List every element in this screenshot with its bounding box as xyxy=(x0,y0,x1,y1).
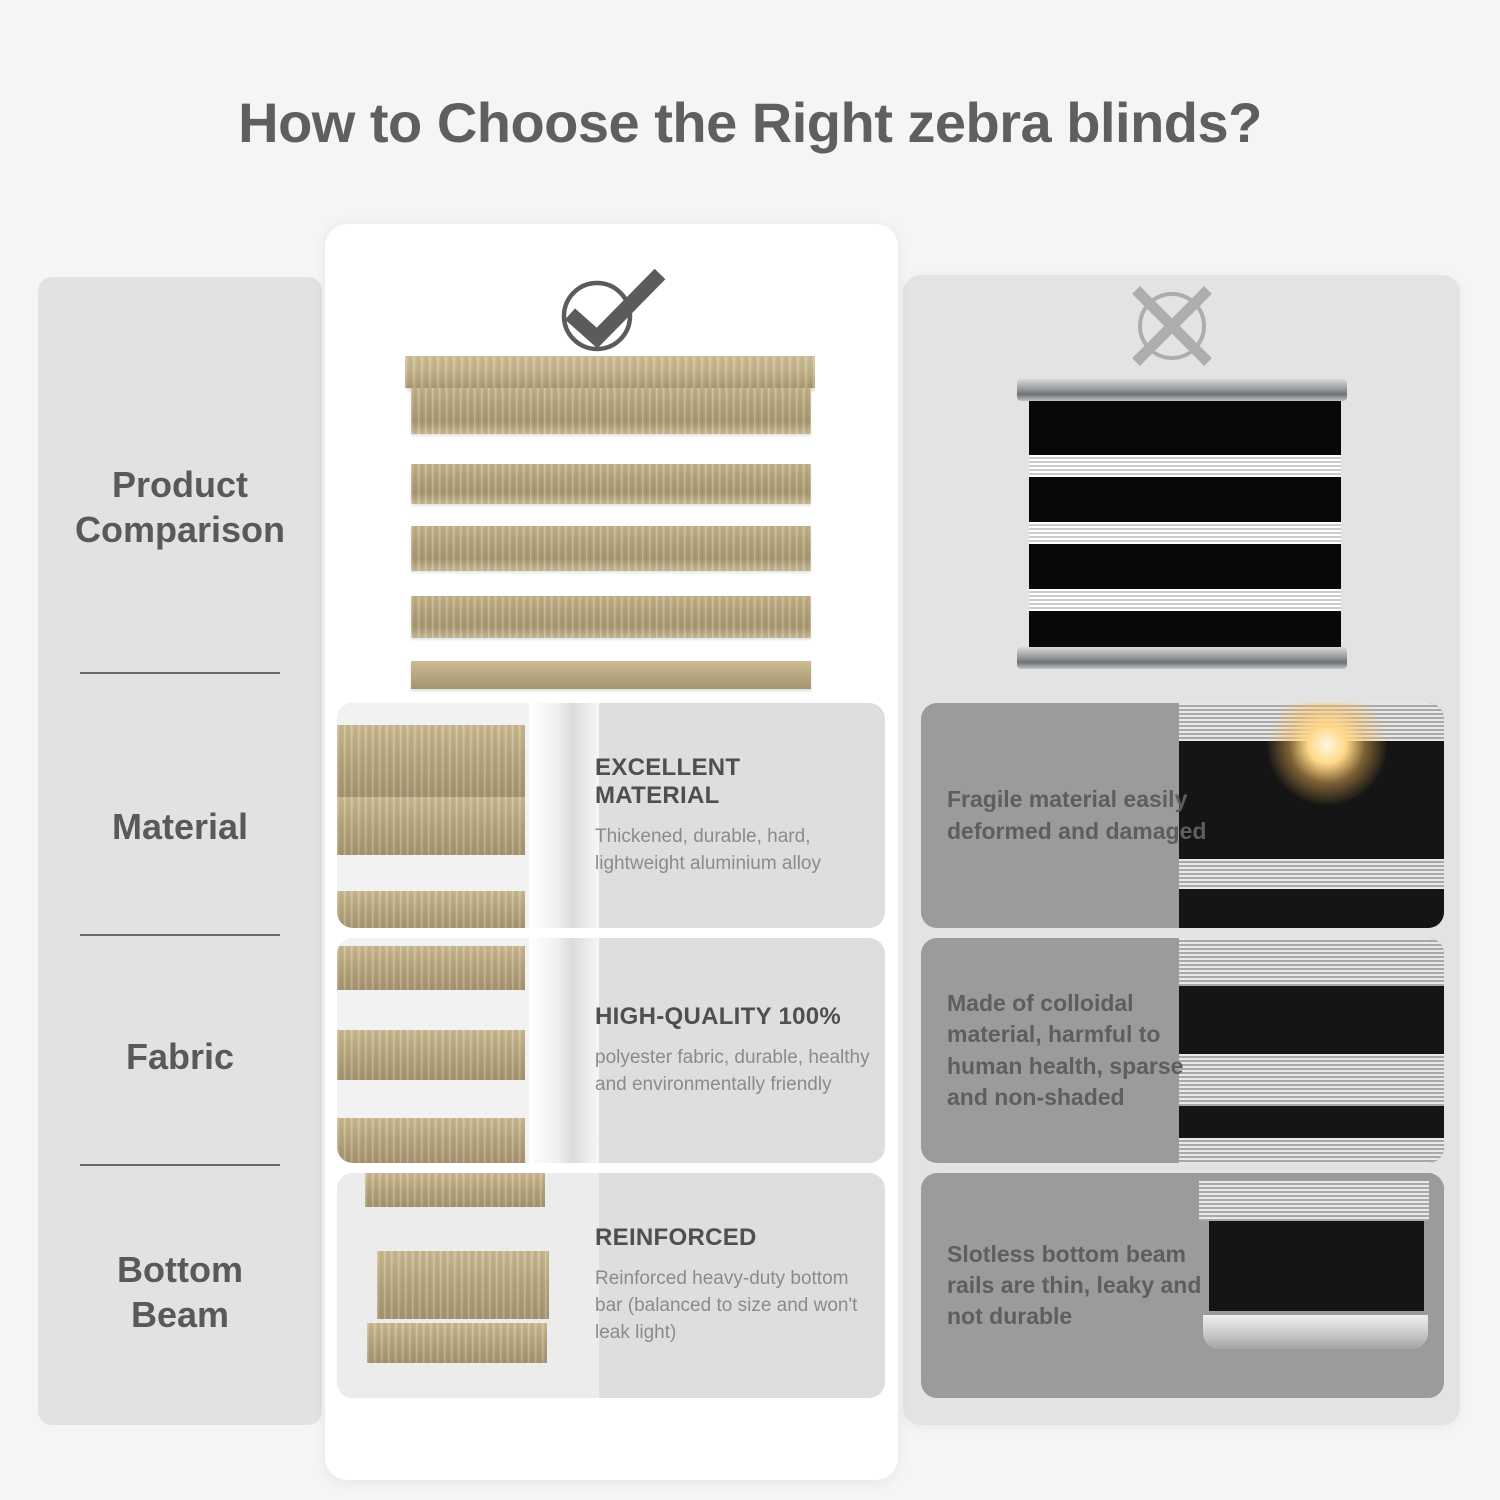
sheer-band xyxy=(1029,522,1341,544)
wood-stripe xyxy=(337,891,525,928)
wood-slat xyxy=(411,388,811,434)
good-row-title: HIGH-QUALITY 100% xyxy=(595,1003,871,1031)
sheer-stripe xyxy=(1199,1181,1429,1221)
sidebar-item-product-comparison: Product Comparison xyxy=(38,417,322,597)
good-bottom-beam-photo xyxy=(337,1173,599,1398)
good-row-text: Thickened, durable, hard, lightweight al… xyxy=(595,824,871,878)
bad-row-bottom-beam: Slotless bottom beam rails are thin, lea… xyxy=(921,1173,1444,1398)
wood-headrail xyxy=(405,356,815,388)
wood-slat xyxy=(411,596,811,638)
good-fabric-photo xyxy=(337,938,599,1163)
wood-stripe xyxy=(337,946,525,990)
sidebar-item-material: Material xyxy=(38,737,322,917)
black-band xyxy=(1029,401,1341,455)
wood-stripe xyxy=(377,1251,549,1319)
category-sidebar: Product Comparison Material Fabric Botto… xyxy=(38,277,322,1425)
sheer-stripe xyxy=(1179,938,1444,986)
bad-row-text: Slotless bottom beam rails are thin, lea… xyxy=(947,1239,1217,1333)
window-frame-edge xyxy=(529,703,599,928)
wood-slat xyxy=(411,464,811,504)
sidebar-item-bottom-beam: Bottom Beam xyxy=(38,1197,322,1387)
dark-band xyxy=(1179,889,1444,928)
good-row-bottom-beam: REINFORCED Reinforced heavy-duty bottom … xyxy=(337,1173,885,1398)
page-title: How to Choose the Right zebra blinds? xyxy=(0,90,1500,155)
wood-stripe xyxy=(337,797,525,855)
bad-row-text: Made of colloidal material, harmful to h… xyxy=(947,988,1217,1113)
sidebar-divider xyxy=(80,672,280,674)
good-row-title: EXCELLENT MATERIAL xyxy=(595,754,871,810)
window-frame-edge xyxy=(529,938,599,1163)
sidebar-label-line1: Product xyxy=(112,464,248,505)
bad-material-photo xyxy=(1179,703,1444,928)
black-band xyxy=(1029,544,1341,589)
metal-bottom-rail xyxy=(1017,647,1347,669)
good-row-text: Reinforced heavy-duty bottom bar (balanc… xyxy=(595,1266,871,1347)
sheer-stripe xyxy=(1179,1054,1444,1106)
sheer-stripe xyxy=(1179,859,1444,889)
bad-row-fabric: Made of colloidal material, harmful to h… xyxy=(921,938,1444,1163)
sheer-band xyxy=(1029,589,1341,611)
bad-product-image xyxy=(1013,375,1353,675)
good-row-material: EXCELLENT MATERIAL Thickened, durable, h… xyxy=(337,703,885,928)
sidebar-label-line1: Bottom xyxy=(117,1249,243,1290)
comparison-infographic: How to Choose the Right zebra blinds? Pr… xyxy=(0,0,1500,1500)
dark-band xyxy=(1179,1106,1444,1138)
bad-fabric-photo xyxy=(1179,938,1444,1163)
good-row-title: REINFORCED xyxy=(595,1224,871,1252)
dark-band xyxy=(1209,1221,1424,1311)
sidebar-label-line2: Comparison xyxy=(75,509,285,550)
good-row-fabric: HIGH-QUALITY 100% polyester fabric, dura… xyxy=(337,938,885,1163)
dark-band xyxy=(1179,986,1444,1054)
sidebar-divider xyxy=(80,1164,280,1166)
check-circle-icon xyxy=(556,268,666,354)
sidebar-label-material: Material xyxy=(112,804,248,849)
sheer-band xyxy=(1029,455,1341,477)
thin-bottom-rail xyxy=(1203,1315,1428,1349)
wood-stripe xyxy=(337,725,525,797)
sidebar-label-fabric: Fabric xyxy=(126,1034,234,1079)
bad-row-material: Fragile material easily deformed and dam… xyxy=(921,703,1444,928)
sidebar-item-fabric: Fabric xyxy=(38,967,322,1147)
good-product-image xyxy=(405,356,815,698)
good-material-photo xyxy=(337,703,599,928)
black-band xyxy=(1029,611,1341,649)
metal-headrail xyxy=(1017,379,1347,401)
black-band xyxy=(1029,477,1341,522)
wood-stripe xyxy=(337,1030,525,1080)
wood-stripe xyxy=(337,1118,525,1163)
bad-bottom-beam-photo xyxy=(1179,1173,1444,1398)
bad-row-text: Fragile material easily deformed and dam… xyxy=(947,784,1217,847)
good-row-text: polyester fabric, durable, healthy and e… xyxy=(595,1045,871,1099)
wood-bottom-beam xyxy=(367,1323,547,1363)
sidebar-divider xyxy=(80,934,280,936)
sidebar-label-line2: Beam xyxy=(131,1294,229,1335)
wood-slat xyxy=(411,526,811,571)
wood-bottom-bar xyxy=(411,661,811,689)
sheer-stripe xyxy=(1179,1138,1444,1163)
wood-stripe xyxy=(365,1173,545,1207)
x-circle-icon xyxy=(1128,284,1216,368)
